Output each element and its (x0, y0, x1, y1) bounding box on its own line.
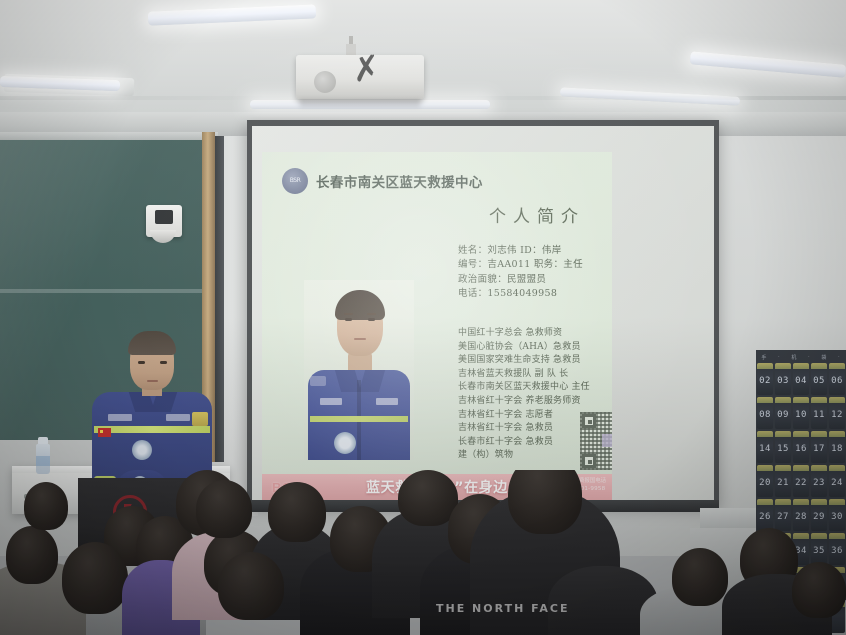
pocket-slot-number: 18 (831, 444, 843, 454)
projector-shadow (300, 99, 420, 107)
credential-row: 美国心脏协会（AHA）急救员 (458, 341, 612, 355)
portrait-mouth (354, 338, 366, 340)
pocket-slot-lip (775, 431, 791, 437)
portrait-chest-patch (376, 398, 398, 405)
pocket-slot-lip (775, 397, 791, 403)
pocket-slot-number: 14 (759, 444, 771, 454)
audience-head (672, 548, 728, 606)
pocket-slot-lip (757, 397, 773, 403)
presenter-shoulder-patch (192, 412, 208, 426)
info-row-affiliation: 政治面貌：民盟盟员 (458, 273, 610, 287)
portrait-photo (304, 280, 414, 460)
info-row-name: 姓名：刘志伟 ID：伟岸 (458, 244, 610, 258)
organization-name: 长春市南关区蓝天救援中心 (316, 171, 483, 191)
slide-title: 个人简介 (467, 202, 607, 227)
pocket-chart-row: 1415161718 (756, 430, 846, 464)
pocket-chart-row: 0203040506 (756, 362, 846, 396)
pocket-slot-17: 17 (811, 431, 827, 463)
presenter-chest-patch (108, 414, 132, 421)
wall-post-shadow (215, 136, 224, 462)
credential-row: 吉林省蓝天救援队 副 队 长 (458, 368, 612, 382)
presenter-eye (160, 361, 167, 364)
pocket-slot-number: 04 (795, 376, 807, 386)
presenter-eye (138, 361, 145, 364)
info-row-id-number: 编号：吉AA011 职务：主任 (458, 258, 610, 272)
slide-header: BSR 长春市南关区蓝天救援中心 (282, 168, 483, 194)
personal-info-block: 姓名：刘志伟 ID：伟岸 编号：吉AA011 职务：主任 政治面貌：民盟盟员 电… (458, 244, 610, 302)
qr-code-icon (580, 412, 612, 470)
national-flag-patch-icon (98, 428, 111, 437)
pocket-slot-11: 11 (811, 397, 827, 429)
pocket-slot-12: 12 (829, 397, 845, 429)
pocket-slot-18: 18 (829, 431, 845, 463)
pocket-slot-number: 06 (831, 376, 843, 386)
pocket-slot-05: 05 (811, 363, 827, 395)
pocket-chart-header: 手 · 机 · 袋 · (756, 352, 846, 362)
pocket-chart-header-glyph: · (778, 354, 781, 360)
pocket-slot-lip (793, 363, 809, 369)
credential-row: 长春市南关区蓝天救援中心 主任 (458, 381, 612, 395)
qr-finder-pattern (582, 454, 596, 468)
pocket-slot-06: 06 (829, 363, 845, 395)
pocket-chart-header-glyph: 手 (761, 354, 767, 361)
pocket-slot-16: 16 (793, 431, 809, 463)
pocket-slot-number: 10 (795, 410, 807, 420)
pocket-slot-08: 08 (757, 397, 773, 429)
pocket-slot-lip (829, 363, 845, 369)
credential-row: 中国红十字总会 急救师资 (458, 327, 612, 341)
portrait-shoulder-patch (310, 376, 326, 386)
pocket-slot-number: 15 (777, 444, 789, 454)
pocket-slot-number: 09 (777, 410, 789, 420)
audience-head (792, 562, 846, 618)
credential-row: 吉林省红十字会 养老服务师资 (458, 395, 612, 409)
pocket-slot-lip (811, 431, 827, 437)
pocket-slot-lip (811, 363, 827, 369)
pocket-slot-number: 03 (777, 376, 789, 386)
audience-head (62, 542, 128, 614)
pocket-slot-03: 03 (775, 363, 791, 395)
pocket-chart-row: 0809101112 (756, 396, 846, 430)
audience-head (6, 526, 58, 584)
audience-head (24, 482, 68, 530)
audience-head (218, 552, 284, 620)
credential-row: 美国国家突难生命支持 急救员 (458, 354, 612, 368)
presenter-badge-icon (132, 440, 152, 460)
audience-head (196, 480, 252, 538)
projector-marking-icon: ✗ (349, 45, 400, 91)
pocket-slot-14: 14 (757, 431, 773, 463)
presenter-hair (128, 331, 176, 355)
portrait-eye (368, 318, 375, 321)
pocket-chart-header-glyph: · (838, 354, 841, 360)
pocket-slot-lip (775, 363, 791, 369)
presenter-chest-patch (166, 414, 190, 421)
pocket-slot-number: 12 (831, 410, 843, 420)
classroom-photo-scene: ✗ BSR 长春市南关区蓝天救援中心 个人简介 (0, 0, 846, 635)
pocket-slot-number: 11 (813, 410, 825, 420)
pocket-slot-lip (793, 397, 809, 403)
presenter-reflective-stripe (94, 426, 210, 433)
audience-students: THE NORTH FACE (0, 470, 846, 635)
pocket-chart-header-glyph: · (808, 354, 811, 360)
organization-logo-icon: BSR (282, 168, 308, 194)
water-bottle-label (36, 456, 50, 466)
pocket-slot-lip (811, 397, 827, 403)
presentation-slide: BSR 长春市南关区蓝天救援中心 个人简介 姓名： (262, 152, 612, 500)
pocket-slot-10: 10 (793, 397, 809, 429)
info-row-phone: 电话：15584049958 (458, 287, 610, 301)
pocket-slot-number: 02 (759, 376, 771, 386)
portrait-eyebrow (367, 313, 376, 315)
pocket-slot-number: 05 (813, 376, 825, 386)
jacket-brand-text: THE NORTH FACE (436, 602, 569, 615)
portrait-eyebrow (344, 313, 353, 315)
presenter-mouth (147, 380, 158, 382)
pocket-slot-lip (757, 363, 773, 369)
portrait-reflective-stripe (310, 416, 408, 422)
pocket-slot-lip (829, 397, 845, 403)
pocket-slot-15: 15 (775, 431, 791, 463)
pocket-slot-09: 09 (775, 397, 791, 429)
pocket-slot-02: 02 (757, 363, 773, 395)
audience-head (508, 470, 582, 534)
audience-head (268, 482, 326, 542)
pocket-slot-number: 08 (759, 410, 771, 420)
qr-center-logo (602, 434, 612, 447)
pocket-slot-number: 17 (813, 444, 825, 454)
portrait-chest-patch (320, 398, 342, 405)
pocket-slot-lip (793, 431, 809, 437)
pocket-slot-lip (829, 431, 845, 437)
portrait-badge-icon (334, 432, 356, 454)
pocket-slot-number: 16 (795, 444, 807, 454)
portrait-eye (345, 318, 352, 321)
pocket-chart-header-glyph: 机 (791, 354, 797, 361)
pocket-slot-lip (757, 431, 773, 437)
pocket-slot-04: 04 (793, 363, 809, 395)
qr-finder-pattern (582, 414, 596, 428)
pocket-chart-header-glyph: 袋 (821, 354, 827, 361)
